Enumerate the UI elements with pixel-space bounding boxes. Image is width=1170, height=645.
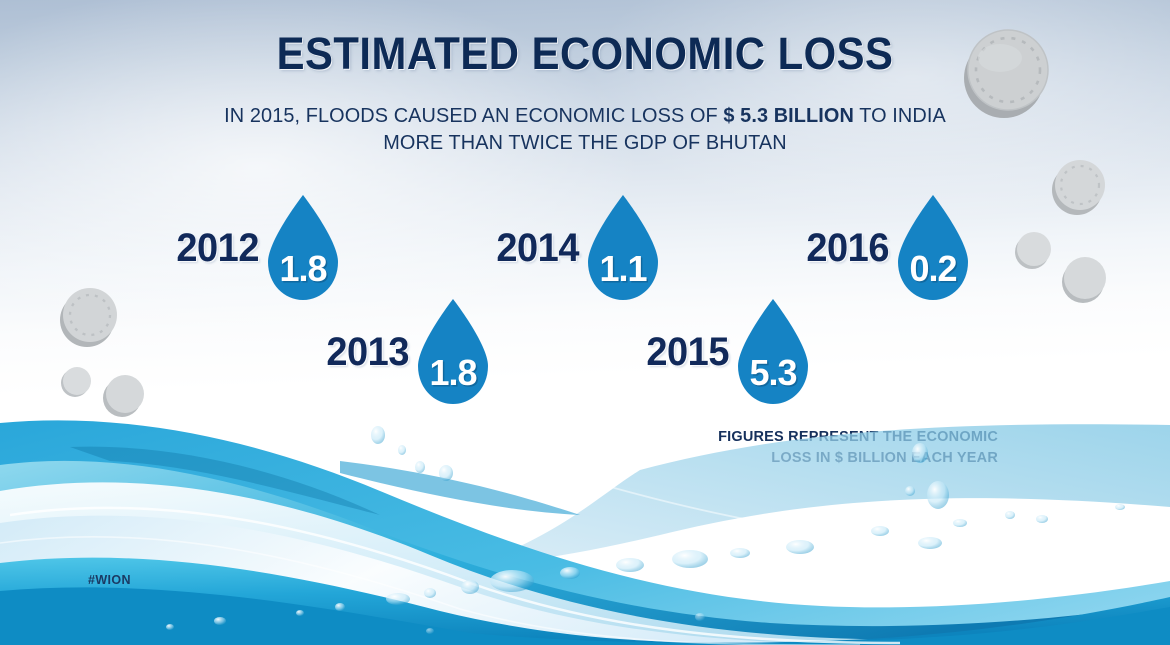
data-point-2013[interactable]: 2013 1.8 [322, 296, 497, 408]
value-label: 0.2 [889, 248, 977, 290]
decorative-coin-icon [56, 282, 122, 350]
source-label: SOURCE: [927, 570, 998, 587]
value-label: 1.1 [579, 248, 667, 290]
water-drop-icon: 1.1 [579, 192, 667, 304]
value-label: 1.8 [409, 352, 497, 394]
data-point-2015[interactable]: 2015 5.3 [642, 296, 817, 408]
source-credit: SOURCE: LOK SABHA [927, 570, 1090, 587]
water-drop-icon: 1.8 [409, 296, 497, 408]
infographic-canvas: ESTIMATED ECONOMIC LOSS IN 2015, FLOODS … [0, 0, 1170, 645]
value-label: 5.3 [729, 352, 817, 394]
year-label: 2015 [646, 330, 729, 375]
data-point-2012[interactable]: 2012 1.8 [172, 192, 347, 304]
water-wave-graphic [0, 395, 1170, 645]
decorative-coin-icon [1012, 228, 1054, 272]
decorative-coin-icon [1058, 252, 1110, 306]
subtitle: IN 2015, FLOODS CAUSED AN ECONOMIC LOSS … [18, 102, 1153, 156]
data-point-2016[interactable]: 2016 0.2 [802, 192, 977, 304]
water-drop-icon: 5.3 [729, 296, 817, 408]
subtitle-line-1: IN 2015, FLOODS CAUSED AN ECONOMIC LOSS … [18, 102, 1153, 129]
water-drop-icon: 0.2 [889, 192, 977, 304]
water-drop-icon: 1.8 [259, 192, 347, 304]
page-title: ESTIMATED ECONOMIC LOSS [41, 28, 1129, 80]
year-label: 2016 [806, 226, 889, 271]
year-label: 2012 [176, 226, 259, 271]
year-label: 2013 [326, 330, 409, 375]
subtitle-highlight: $ 5.3 BILLION [723, 104, 854, 127]
year-label: 2014 [496, 226, 579, 271]
source-value: LOK SABHA [998, 570, 1090, 587]
watermark: #WION [88, 573, 131, 587]
data-point-2014[interactable]: 2014 1.1 [492, 192, 667, 304]
decorative-coin-icon [1048, 154, 1110, 218]
subtitle-pre: IN 2015, FLOODS CAUSED AN ECONOMIC LOSS … [224, 104, 723, 127]
value-label: 1.8 [259, 248, 347, 290]
subtitle-post: TO INDIA [854, 104, 946, 127]
subtitle-line-2: MORE THAN TWICE THE GDP OF BHUTAN [18, 129, 1153, 156]
